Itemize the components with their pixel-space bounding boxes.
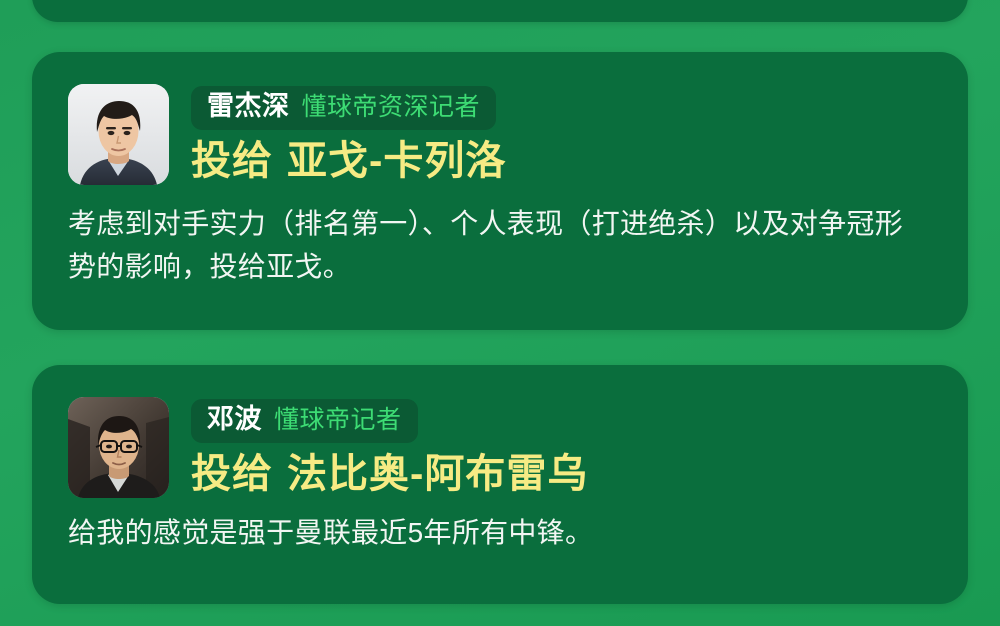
- card-above-fold-partial: [32, 0, 968, 22]
- comment-card[interactable]: 雷杰深 懂球帝资深记者 投给亚戈-卡列洛 考虑到对手实力（排名第一）、个人表现（…: [32, 52, 968, 330]
- reporter-portrait-icon: [68, 84, 169, 185]
- vote-headline-target: 亚戈-卡列洛: [287, 139, 506, 183]
- reporter-role: 懂球帝记者: [274, 407, 402, 435]
- vote-headline-target: 法比奥-阿布雷乌: [287, 452, 588, 496]
- card-header: 邓波 懂球帝记者 投给法比奥-阿布雷乌: [32, 365, 968, 498]
- card-header-text: 邓波 懂球帝记者 投给法比奥-阿布雷乌: [191, 397, 588, 496]
- card-header: 雷杰深 懂球帝资深记者 投给亚戈-卡列洛: [32, 52, 968, 185]
- vote-headline-action: 投给: [191, 139, 273, 183]
- vote-headline: 投给法比奥-阿布雷乌: [191, 452, 588, 497]
- vote-headline: 投给亚戈-卡列洛: [191, 139, 506, 184]
- vote-headline-action: 投给: [191, 452, 273, 496]
- comment-body: 考虑到对手实力（排名第一）、个人表现（打进绝杀）以及对争冠形势的影响，投给亚戈。: [32, 185, 968, 288]
- reporter-badge: 邓波 懂球帝记者: [191, 399, 418, 443]
- reporter-name: 雷杰深: [207, 92, 290, 122]
- reporter-name: 邓波: [207, 405, 262, 435]
- avatar[interactable]: [68, 84, 169, 185]
- reporter-role: 懂球帝资深记者: [302, 94, 481, 122]
- avatar[interactable]: [68, 397, 169, 498]
- reporter-badge: 雷杰深 懂球帝资深记者: [191, 86, 496, 130]
- vote-comment-feed: 雷杰深 懂球帝资深记者 投给亚戈-卡列洛 考虑到对手实力（排名第一）、个人表现（…: [0, 0, 1000, 626]
- comment-card[interactable]: 邓波 懂球帝记者 投给法比奥-阿布雷乌 给我的感觉是强于曼联最近5年所有中锋。: [32, 365, 968, 604]
- reporter-portrait-icon: [68, 397, 169, 498]
- card-header-text: 雷杰深 懂球帝资深记者 投给亚戈-卡列洛: [191, 84, 506, 183]
- comment-body: 给我的感觉是强于曼联最近5年所有中锋。: [32, 498, 968, 555]
